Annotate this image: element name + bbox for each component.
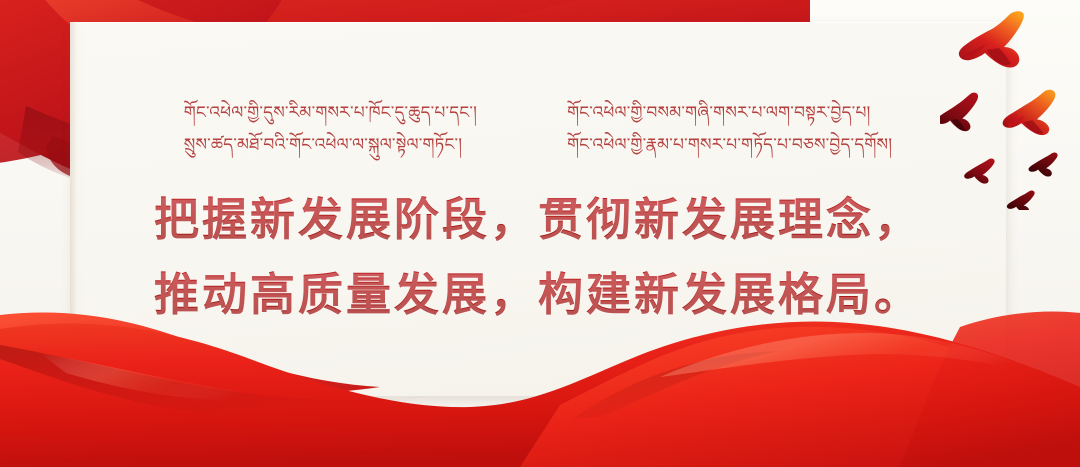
- tibetan-column-right: གོང་འཕེལ་གྱི་བསམ་གཞི་གསར་པ་ལག་བསྟར་བྱེད་…: [567, 100, 892, 159]
- tibetan-left-line-2: སྲུས་ཚད་མཐོ་བའི་གོང་འཕེལ་ལ་སྐུལ་སྟེལ་གཏོ…: [184, 132, 477, 158]
- tibetan-left-line-1: གོང་འཕེལ་གྱི་དུས་རིམ་གསར་པ་ཁོང་དུ་ཆུད་པ་…: [184, 100, 477, 126]
- slogan-line-2: 推动高质量发展，构建新发展格局。: [154, 268, 922, 323]
- tibetan-right-line-1: གོང་འཕེལ་གྱི་བསམ་གཞི་གསར་པ་ལག་བསྟར་བྱེད་…: [567, 100, 892, 126]
- chinese-slogan: 把握新发展阶段，贯彻新发展理念， 推动高质量发展，构建新发展格局。: [154, 193, 922, 323]
- tibetan-column-left: གོང་འཕེལ་གྱི་དུས་རིམ་གསར་པ་ཁོང་དུ་ཆུད་པ་…: [184, 100, 477, 159]
- tibetan-header: གོང་འཕེལ་གྱི་དུས་རིམ་གསར་པ་ཁོང་དུ་ཆུད་པ་…: [70, 100, 1006, 159]
- tibetan-right-line-2: གོང་འཕེལ་གྱི་རྣམ་པ་གསར་པ་གཏོད་པ་བཅས་བྱེད…: [567, 132, 892, 158]
- slogan-banner: གོང་འཕེལ་གྱི་དུས་རིམ་གསར་པ་ཁོང་དུ་ཆུད་པ་…: [0, 0, 1080, 467]
- slogan-line-1: 把握新发展阶段，贯彻新发展理念，: [154, 193, 922, 248]
- banner-content: གོང་འཕེལ་གྱི་དུས་རིམ་གསར་པ་ཁོང་དུ་ཆུད་པ་…: [70, 22, 1006, 396]
